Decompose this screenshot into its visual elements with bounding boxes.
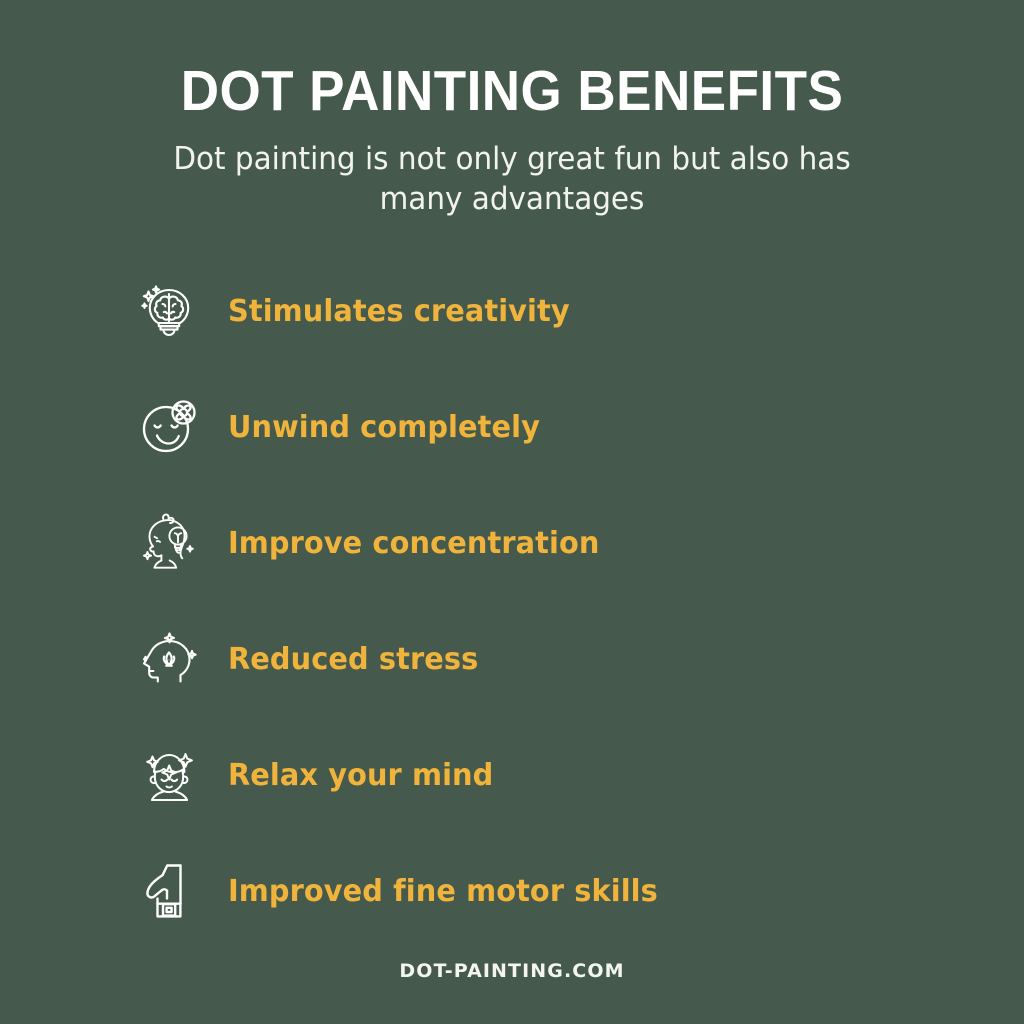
smiling-face-flower-icon	[132, 390, 206, 464]
benefit-label: Relax your mind	[228, 758, 493, 793]
benefit-label: Improve concentration	[228, 526, 599, 561]
head-profile-lightbulb-icon	[132, 506, 206, 580]
page-subtitle: Dot painting is not only great fun but a…	[165, 140, 859, 219]
footer: DOT-PAINTING.COM	[0, 960, 1024, 982]
list-item: Stimulates creativity	[132, 253, 1024, 369]
header: DOT PAINTING BENEFITS Dot painting is no…	[0, 0, 1024, 219]
benefits-list: Stimulates creativity Unwind complet	[0, 253, 1024, 949]
benefit-label: Improved fine motor skills	[228, 874, 658, 909]
list-item: Relax your mind	[132, 717, 1024, 833]
list-item: Reduced stress	[132, 601, 1024, 717]
benefit-label: Unwind completely	[228, 410, 540, 445]
brain-lightbulb-icon	[132, 274, 206, 348]
list-item: Unwind completely	[132, 369, 1024, 485]
page-title: DOT PAINTING BENEFITS	[36, 62, 988, 122]
poster: DOT PAINTING BENEFITS Dot painting is no…	[0, 0, 1024, 1024]
face-sparkles-icon	[132, 738, 206, 812]
benefit-label: Stimulates creativity	[228, 294, 570, 329]
website-url[interactable]: DOT-PAINTING.COM	[399, 960, 624, 982]
list-item: Improved fine motor skills	[132, 833, 1024, 949]
benefit-label: Reduced stress	[228, 642, 478, 677]
hand-holding-block-icon	[132, 854, 206, 928]
list-item: Improve concentration	[132, 485, 1024, 601]
head-lotus-sparkles-icon	[132, 622, 206, 696]
